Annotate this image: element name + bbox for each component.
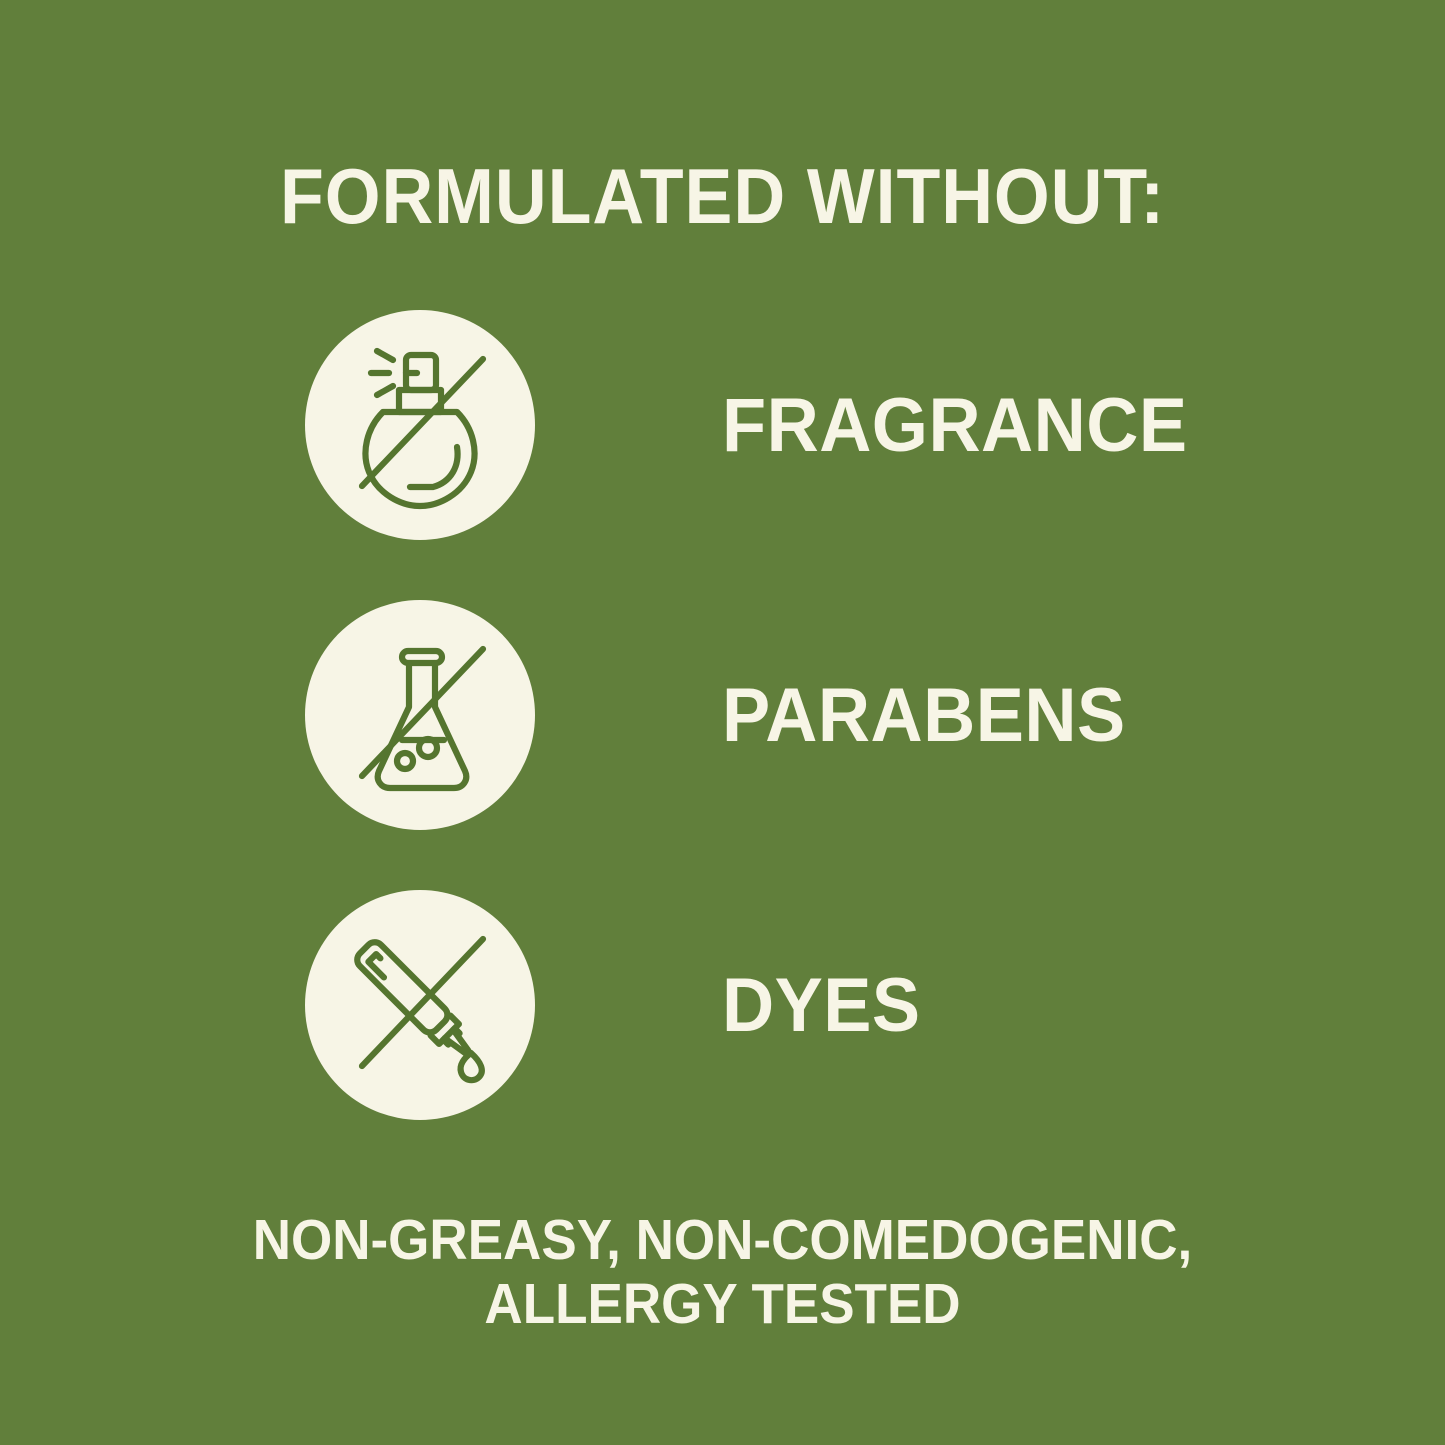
page-title: FORMULATED WITHOUT: xyxy=(58,152,1387,240)
no-parabens-flask-icon xyxy=(305,600,535,830)
no-dyes-dropper-icon xyxy=(305,890,535,1120)
list-item: PARABENS xyxy=(0,600,1445,830)
list-item-label: FRAGRANCE xyxy=(722,310,1212,540)
tagline-line-2: ALLERGY TESTED xyxy=(51,1272,1395,1336)
list-item: DYES xyxy=(0,890,1445,1120)
list-item-label: DYES xyxy=(722,890,931,1120)
claims-list: FRAGRANCE xyxy=(0,310,1445,1180)
tagline-line-1: NON-GREASY, NON-COMEDOGENIC, xyxy=(51,1208,1395,1272)
no-fragrance-spray-bottle-icon xyxy=(305,310,535,540)
list-item: FRAGRANCE xyxy=(0,310,1445,540)
tagline: NON-GREASY, NON-COMEDOGENIC, ALLERGY TES… xyxy=(0,1208,1445,1336)
list-item-label: PARABENS xyxy=(722,600,1147,830)
formulated-without-panel: FORMULATED WITHOUT: xyxy=(0,0,1445,1445)
